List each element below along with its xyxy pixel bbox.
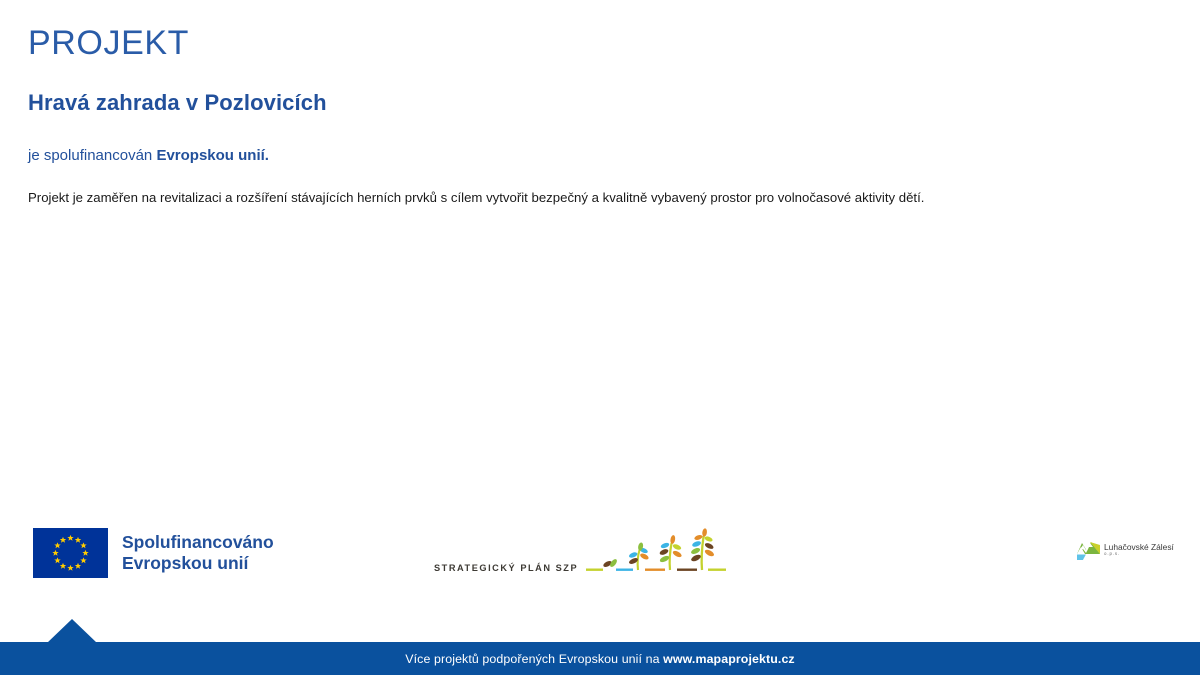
szp-strategic-plan-logo: STRATEGICKÝ PLÁN SZP (434, 528, 726, 580)
cofinanced-statement: je spolufinancován Evropskou unií. (28, 147, 269, 164)
mountain-landscape-icon (1077, 539, 1100, 560)
page-eyebrow: PROJEKT (28, 26, 189, 62)
slide-canvas: PROJEKT Hravá zahrada v Pozlovicích je s… (0, 0, 1200, 675)
eu-logo-line-2: Evropskou unií (122, 553, 274, 574)
footer-bar: Více projektů podpořených Evropskou unií… (0, 642, 1200, 675)
page-title: Hravá zahrada v Pozlovicích (28, 90, 327, 116)
luhacovske-zalesi-name: Luhačovské Zálesí (1104, 543, 1174, 551)
luhacovske-zalesi-legal-form: o.p.s. (1104, 552, 1174, 556)
project-description: Projekt je zaměřen na revitalizaci a roz… (28, 189, 924, 207)
cofinanced-prefix: je spolufinancován (28, 147, 156, 164)
footer-text-prefix: Více projektů podpořených Evropskou unií… (405, 652, 663, 666)
luhacovske-zalesi-logo: Luhačovské Zálesí o.p.s. (1077, 539, 1174, 560)
cofinanced-emphasis: Evropskou unií. (156, 147, 269, 164)
eu-flag-icon (33, 528, 108, 578)
footer-url[interactable]: www.mapaprojektu.cz (663, 652, 795, 666)
eu-logo-caption: Spolufinancováno Evropskou unií (122, 532, 274, 575)
szp-plants-icon (586, 528, 726, 580)
footer-notch-triangle (47, 619, 97, 643)
eu-cofinancing-logo: Spolufinancováno Evropskou unií (33, 528, 274, 578)
luhacovske-zalesi-caption: Luhačovské Zálesí o.p.s. (1104, 543, 1174, 557)
szp-logo-text: STRATEGICKÝ PLÁN SZP (434, 563, 578, 580)
footer-text: Více projektů podpořených Evropskou unií… (405, 652, 794, 666)
eu-logo-line-1: Spolufinancováno (122, 532, 274, 553)
